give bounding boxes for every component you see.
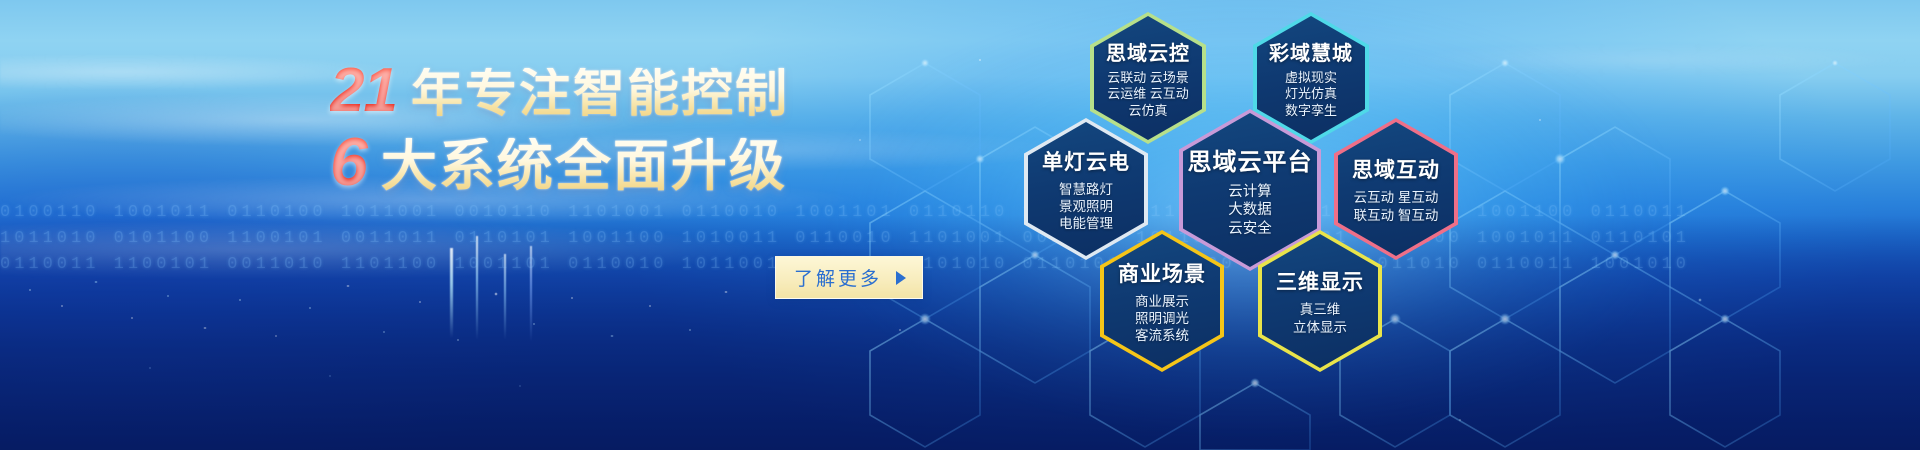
hexagon-subitem: 数字孪生 (1285, 103, 1337, 120)
hexagon-subitem: 云互动 星互动 (1354, 189, 1439, 206)
hexagon-title: 思域云控 (1106, 37, 1190, 66)
hexagon-subitem: 虚拟现实 (1285, 70, 1337, 87)
hexagon-title: 思域互动 (1352, 154, 1440, 184)
hexagon-title: 单灯云电 (1042, 146, 1130, 176)
hexagon-subitem: 景观照明 (1059, 198, 1113, 215)
hexagon-subitems: 商业展示照明调光客流系统 (1135, 293, 1189, 345)
hexagon-subitem: 智慧路灯 (1059, 181, 1113, 198)
hexagon-subitem: 商业展示 (1135, 293, 1189, 310)
hexagon-siyu-cloud-control[interactable]: 思域云控云联动 云场景云运维 云互动云仿真 (1090, 12, 1206, 144)
hexagon-subitem: 云仿真 (1107, 103, 1189, 120)
promotional-banner: 0100110 1001011 0110100 1011001 0010110 … (0, 0, 1920, 450)
hexagon-title: 商业场景 (1118, 258, 1206, 288)
hexagon-subitem: 云安全 (1228, 220, 1272, 239)
hexagon-subitems: 智慧路灯景观照明电能管理 (1059, 181, 1113, 233)
hexagon-title: 彩域慧城 (1269, 37, 1353, 66)
hexagon-subitem: 云计算 (1228, 183, 1272, 202)
hexagon-cluster: 思域云控云联动 云场景云运维 云互动云仿真彩域慧城虚拟现实灯光仿真数字孪生单灯云… (0, 0, 1920, 450)
hexagon-commercial-scene[interactable]: 商业场景商业展示照明调光客流系统 (1100, 230, 1224, 372)
hexagon-inner: 商业场景商业展示照明调光客流系统 (1104, 234, 1220, 368)
hexagon-subitems: 云联动 云场景云运维 云互动云仿真 (1107, 70, 1189, 120)
hexagon-subitem: 云联动 云场景 (1107, 70, 1189, 87)
hexagon-title: 思域云平台 (1188, 142, 1313, 177)
hexagon-subitem: 大数据 (1228, 201, 1272, 220)
hexagon-subitem: 电能管理 (1059, 215, 1113, 232)
hexagon-subitem: 联互动 智互动 (1354, 207, 1439, 224)
hexagon-subitem: 灯光仿真 (1285, 86, 1337, 103)
hexagon-subitems: 云互动 星互动联互动 智互动 (1354, 189, 1439, 224)
hexagon-inner: 彩域慧城虚拟现实灯光仿真数字孪生 (1257, 16, 1365, 140)
hexagon-title: 三维显示 (1276, 266, 1364, 296)
hexagon-inner: 思域云控云联动 云场景云运维 云互动云仿真 (1094, 16, 1202, 140)
hexagon-subitem: 照明调光 (1135, 310, 1189, 327)
hexagon-subitem: 真三维 (1293, 301, 1347, 318)
hexagon-subitems: 云计算大数据云安全 (1228, 183, 1272, 239)
hexagon-subitem: 客流系统 (1135, 327, 1189, 344)
hexagon-inner: 单灯云电智慧路灯景观照明电能管理 (1028, 122, 1144, 256)
hexagon-inner: 思域互动云互动 星互动联互动 智互动 (1338, 122, 1454, 256)
hexagon-subitems: 虚拟现实灯光仿真数字孪生 (1285, 70, 1337, 120)
hexagon-single-lamp-cloud-power[interactable]: 单灯云电智慧路灯景观照明电能管理 (1024, 118, 1148, 260)
hexagon-inner: 三维显示真三维立体显示 (1262, 234, 1378, 368)
hexagon-subitem: 云运维 云互动 (1107, 86, 1189, 103)
hexagon-siyu-interaction[interactable]: 思域互动云互动 星互动联互动 智互动 (1334, 118, 1458, 260)
hexagon-subitems: 真三维立体显示 (1293, 301, 1347, 336)
hexagon-subitem: 立体显示 (1293, 319, 1347, 336)
